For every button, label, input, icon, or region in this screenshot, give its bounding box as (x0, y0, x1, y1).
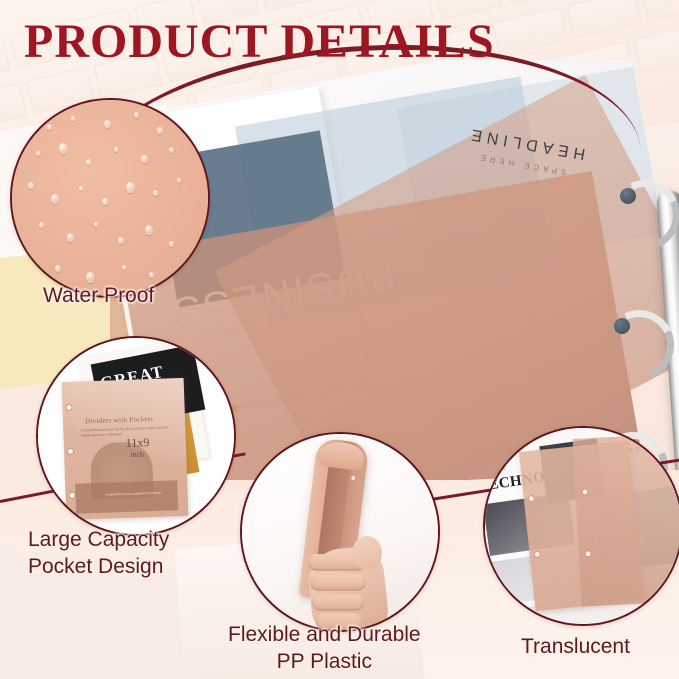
caption-line-1: Flexible and Durable (228, 622, 421, 649)
punch-hole (528, 495, 536, 503)
feature-circle-water-proof (10, 98, 210, 298)
punch-hole (533, 550, 541, 558)
water-drop-icon (51, 194, 59, 204)
feature-circle-pocket-design: GREAT FASHION Dividers with Pockets It c… (36, 336, 236, 536)
water-drop-icon (126, 182, 135, 193)
water-drop-icon (79, 186, 83, 191)
water-drop-icon (141, 155, 148, 163)
translucent-folder-back (573, 433, 679, 606)
thumb (352, 536, 382, 570)
feature-caption-flexible-pp-plastic: Flexible and Durable PP Plastic (228, 622, 421, 676)
folder-gloss-overlay (62, 378, 189, 520)
water-drop-icon (169, 147, 174, 153)
water-drop-icon (102, 198, 108, 205)
water-drop-icon (86, 159, 91, 165)
punch-hole (581, 488, 588, 495)
hand-gripping-folder (292, 530, 396, 632)
punch-hole (585, 550, 592, 557)
caption-line-1: Large Capacity (28, 527, 169, 554)
water-drop-icon (86, 272, 95, 283)
finger (310, 574, 366, 591)
finger (312, 594, 364, 611)
water-drop-icon (67, 233, 74, 242)
water-drop-icon (177, 178, 181, 183)
water-drop-icon (169, 241, 174, 247)
water-drop-icon (94, 222, 98, 227)
page-title: PRODUCT DETAILS (24, 14, 495, 69)
water-drop-icon (36, 151, 40, 156)
water-drop-icon (47, 124, 52, 130)
feature-circle-flexible-pp-plastic (240, 432, 440, 632)
water-drop-icon (153, 190, 158, 196)
water-droplet-surface (12, 100, 208, 296)
water-drop-icon (145, 225, 153, 235)
caption-line-2: Pocket Design (28, 554, 169, 581)
water-drop-icon (71, 116, 75, 121)
water-drop-icon (104, 120, 111, 128)
feature-caption-pocket-design: Large Capacity Pocket Design (28, 527, 169, 581)
feature-circle-translucent: INNOVATION TECHNOLOGY HEADLINE SPACE HER… (483, 426, 679, 626)
pocket-folder: Dividers with Pockets It classifies and … (62, 378, 189, 520)
water-drop-icon (118, 237, 124, 244)
water-drop-icon (157, 127, 163, 134)
feature-caption-water-proof: Water Proof (43, 283, 154, 310)
technology-document-kicker: INNOVATION (483, 467, 506, 475)
feature-caption-translucent: Translucent (521, 634, 630, 661)
water-drop-icon (149, 272, 154, 278)
water-drop-icon (59, 143, 68, 154)
water-drop-icon (134, 112, 139, 118)
water-drop-icon (122, 265, 126, 270)
product-details-infographic: BUSINESS SPACE HERE Write your tagline o… (0, 0, 679, 679)
water-drop-icon (114, 147, 118, 152)
water-drop-icon (28, 182, 34, 189)
water-drop-icon (55, 265, 61, 272)
water-drop-icon (39, 222, 44, 228)
caption-line-2: PP Plastic (228, 649, 421, 676)
